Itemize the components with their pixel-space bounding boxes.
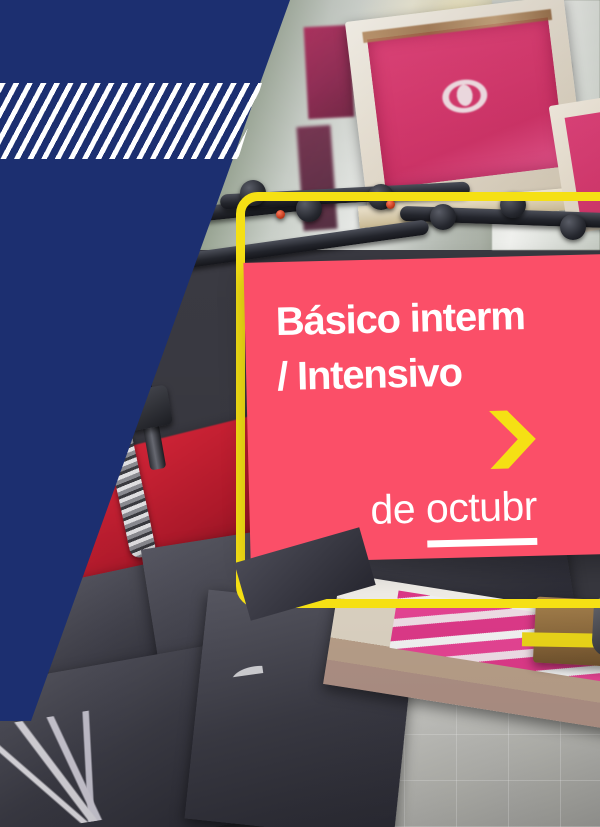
chevron-right-icon <box>485 408 540 471</box>
garment-printed-artwork <box>0 705 142 827</box>
card-headline-line-2: / Intensivo <box>277 353 463 397</box>
pink-card-content: Básico interm / Intensivo de octubr <box>243 253 600 563</box>
card-date-prefix: de <box>370 486 427 533</box>
card-date-month: octubr <box>425 483 537 548</box>
card-date-line: de octubr <box>370 486 537 531</box>
frame-printed-logo <box>430 71 499 124</box>
poster-canvas: L A Básico interm / Intensivo de octubr <box>0 0 600 827</box>
card-headline-line-1: Básico interm <box>275 296 525 342</box>
